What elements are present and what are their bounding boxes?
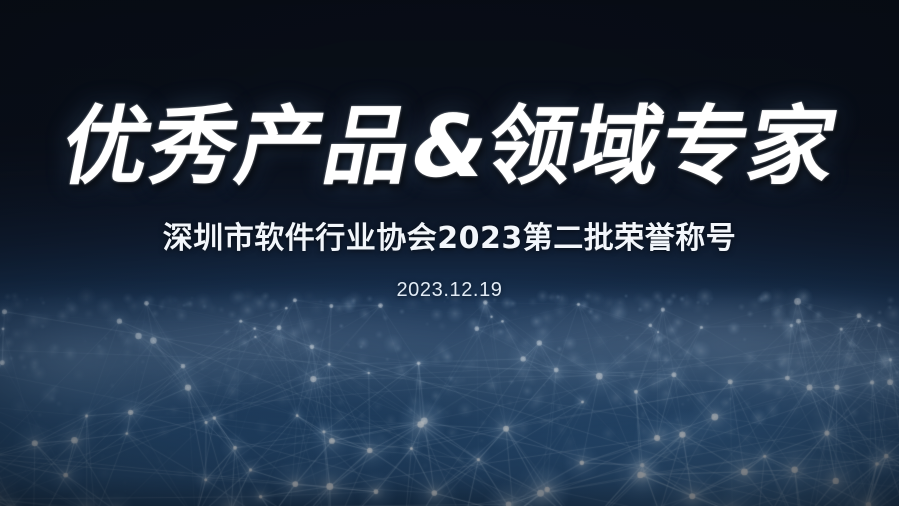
poster-subtitle: 深圳市软件行业协会2023第二批荣誉称号 [163, 224, 737, 254]
poster-title: 优秀产品&领域专家 [55, 104, 844, 190]
poster-content: 优秀产品&领域专家 深圳市软件行业协会2023第二批荣誉称号 2023.12.1… [0, 0, 899, 506]
poster-date: 2023.12.19 [396, 280, 502, 300]
poster-slide: 优秀产品&领域专家 深圳市软件行业协会2023第二批荣誉称号 2023.12.1… [0, 0, 899, 506]
